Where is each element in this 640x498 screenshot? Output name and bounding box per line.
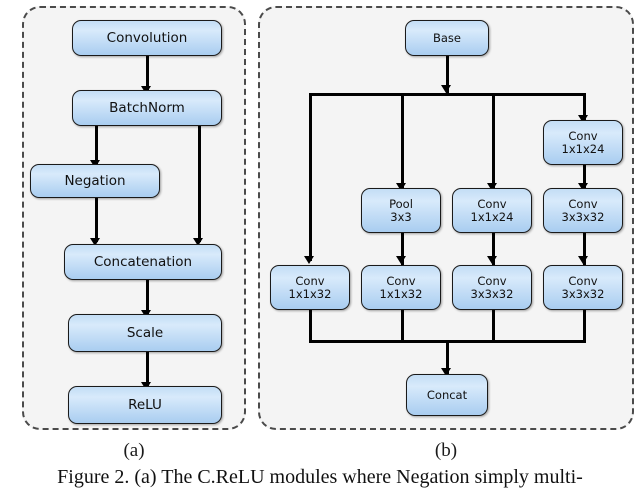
node-convolution[interactable]: Convolution [72,20,222,56]
node-conv-1x1x24-mid-line2: 1x1x24 [471,211,514,223]
edge-split-to-pool [401,93,404,188]
node-conv-1x1x32-col1[interactable]: Conv 1x1x32 [270,265,350,310]
node-base[interactable]: Base [405,20,489,56]
node-conv-1x1x24-mid[interactable]: Conv 1x1x24 [452,188,532,233]
node-conv-1x1x24-right-line2: 1x1x24 [562,143,605,155]
node-conv-3x3x32-right-upper[interactable]: Conv 3x3x32 [543,188,623,233]
node-batchnorm-label: BatchNorm [109,101,185,116]
node-conv-3x3x32-col4-line1: Conv [568,275,597,287]
node-conv-1x1x32-col1-line2: 1x1x32 [289,288,332,300]
node-conv-3x3x32-right-upper-line1: Conv [568,198,597,210]
arrowhead-conv1x1x24-to-conv3x3x32-mid [487,256,497,264]
edge-conv-col2-to-merge [401,308,404,343]
node-conv-1x1x32-col2-line2: 1x1x32 [380,288,423,300]
edge-conv-to-batchnorm [146,56,149,90]
arrowhead-pool-to-conv-1x1x32 [396,256,406,264]
node-conv-1x1x24-right[interactable]: Conv 1x1x24 [543,120,623,165]
edge-split-to-conv-1x1x32-col1 [309,93,312,261]
node-convolution-label: Convolution [107,31,188,46]
figure-caption: Figure 2. (a) The C.ReLU modules where N… [0,466,640,489]
edge-conv-col4-to-merge [583,308,586,343]
node-conv-3x3x32-col3-line1: Conv [477,275,506,287]
edge-batchnorm-to-negation [95,126,98,164]
node-batchnorm[interactable]: BatchNorm [72,90,222,126]
node-concatenation-label: Concatenation [94,255,192,270]
panel-a-sublabel: (a) [84,440,184,462]
arrowhead-base-to-split [441,85,451,93]
edge-concatenation-to-scale [146,280,149,314]
node-conv-3x3x32-col3-line2: 3x3x32 [471,288,514,300]
edge-scale-to-relu [146,352,149,386]
edge-negation-to-concatenation [95,198,98,242]
node-base-label: Base [433,32,461,44]
panel-b-sublabel: (b) [396,440,496,462]
edge-split-to-conv-1x1x24-mid [492,93,495,188]
arrowhead-conv3x3x32-to-conv3x3x32-right [578,256,588,264]
node-relu-label: ReLU [128,398,162,413]
edge-batchnorm-to-concatenation [198,126,201,242]
node-concatenation[interactable]: Concatenation [64,244,222,280]
split-bar [309,93,586,96]
node-conv-3x3x32-col3[interactable]: Conv 3x3x32 [452,265,532,310]
figure-container: Convolution BatchNorm Negation Concatena… [0,0,640,498]
node-conv-3x3x32-col4[interactable]: Conv 3x3x32 [543,265,623,310]
arrowhead-split-to-conv-1x1x32-col1 [304,256,314,264]
node-conv-1x1x32-col2[interactable]: Conv 1x1x32 [361,265,441,310]
node-concat[interactable]: Concat [406,374,488,416]
node-conv-1x1x24-right-line1: Conv [568,130,597,142]
node-pool-3x3-line1: Pool [389,198,413,210]
panel-b-inception-module: Base Conv 1x1x24 Pool 3x3 Conv 1x1x24 Co… [258,6,634,430]
node-pool-3x3[interactable]: Pool 3x3 [361,188,441,233]
node-scale-label: Scale [127,326,163,341]
panel-a-crelu-module: Convolution BatchNorm Negation Concatena… [22,6,246,430]
edge-conv-col1-to-merge [309,308,312,343]
edge-conv-col3-to-merge [492,308,495,343]
node-scale[interactable]: Scale [68,314,222,352]
node-conv-1x1x24-mid-line1: Conv [477,198,506,210]
node-conv-3x3x32-right-upper-line2: 3x3x32 [562,211,605,223]
node-conv-3x3x32-col4-line2: 3x3x32 [562,288,605,300]
node-conv-1x1x32-col1-line1: Conv [295,275,324,287]
node-negation-label: Negation [64,174,125,189]
node-negation[interactable]: Negation [30,164,160,198]
node-relu[interactable]: ReLU [68,386,222,424]
node-conv-1x1x32-col2-line1: Conv [386,275,415,287]
node-pool-3x3-line2: 3x3 [390,211,411,223]
node-concat-label: Concat [427,389,467,401]
